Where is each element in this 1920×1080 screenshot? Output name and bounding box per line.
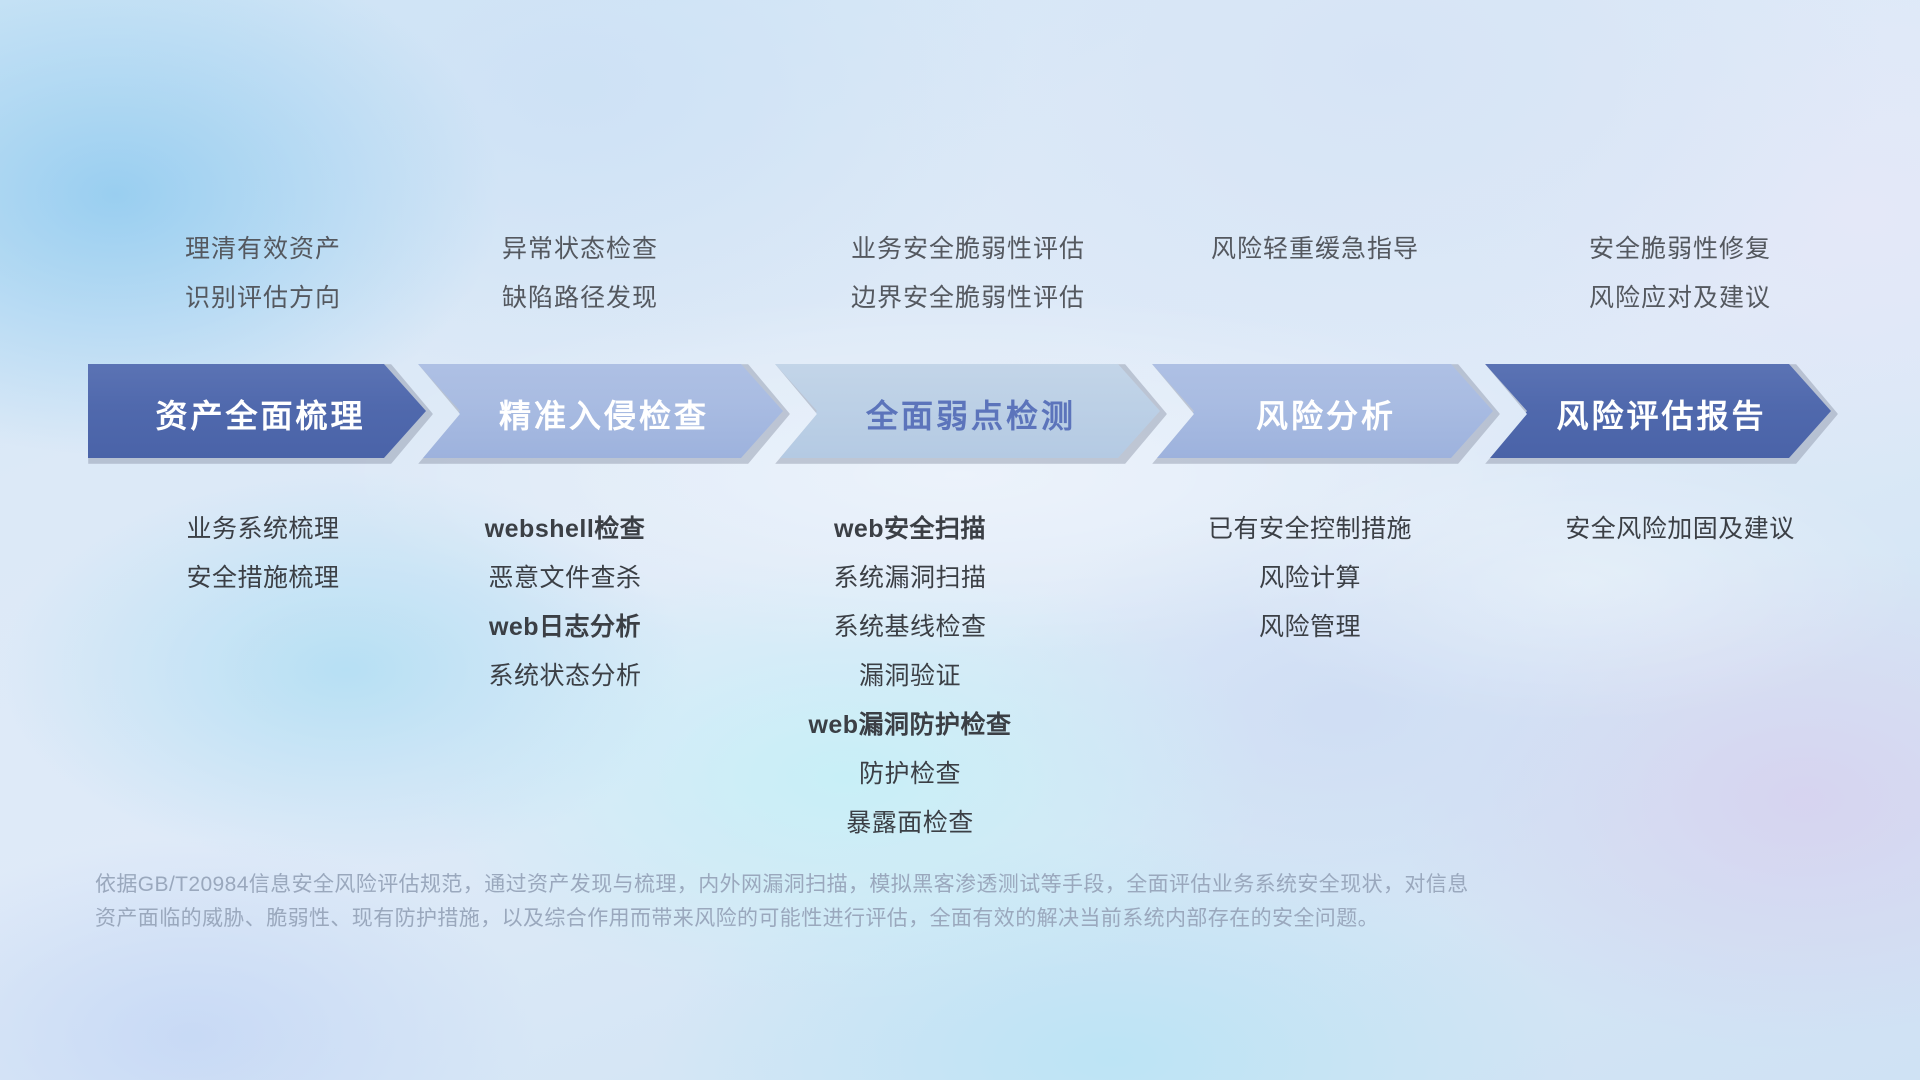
list-item: web漏洞防护检查 — [690, 701, 1130, 750]
process-diagram: 理清有效资产 识别评估方向 异常状态检查 缺陷路径发现 业务安全脆弱性评估 边界… — [0, 0, 1920, 1080]
list-item: 风险计算 — [1100, 554, 1520, 603]
stage-bottom-items-intrusion-check: webshell检查 恶意文件查杀 web日志分析 系统状态分析 — [390, 505, 740, 701]
top-item: 边界安全脆弱性评估 — [758, 274, 1178, 323]
top-item: 风险轻重缓急指导 — [1105, 225, 1525, 274]
list-item: web日志分析 — [390, 603, 740, 652]
list-item: 漏洞验证 — [690, 652, 1130, 701]
process-chevron-banner: 资产全面梳理 精准入侵检查 全面弱点检测 风险分析 风险评估报告 — [88, 364, 1838, 464]
chevron-stage-asset-inventory[interactable]: 资产全面梳理 — [88, 364, 433, 464]
chevron-label: 精准入侵检查 — [499, 391, 709, 437]
chevron-stage-assessment-report[interactable]: 风险评估报告 — [1485, 364, 1838, 464]
list-item: 系统漏洞扫描 — [690, 554, 1130, 603]
list-item: 风险管理 — [1100, 603, 1520, 652]
list-item: 安全措施梳理 — [88, 554, 438, 603]
list-item: webshell检查 — [390, 505, 740, 554]
stage-top-items-risk-analysis: 风险轻重缓急指导 — [1105, 225, 1525, 274]
chevron-label: 资产全面梳理 — [155, 391, 365, 437]
top-item: 理清有效资产 — [88, 225, 438, 274]
top-item: 识别评估方向 — [88, 274, 438, 323]
list-item: 安全风险加固及建议 — [1470, 505, 1890, 554]
chevron-label: 风险分析 — [1256, 391, 1396, 437]
list-item: 恶意文件查杀 — [390, 554, 740, 603]
stage-bottom-items-asset-inventory: 业务系统梳理 安全措施梳理 — [88, 505, 438, 603]
stage-top-items-asset-inventory: 理清有效资产 识别评估方向 — [88, 225, 438, 323]
stage-top-items-intrusion-check: 异常状态检查 缺陷路径发现 — [405, 225, 755, 323]
chevron-stage-weakness-detection[interactable]: 全面弱点检测 — [775, 364, 1167, 464]
chevron-stage-risk-analysis[interactable]: 风险分析 — [1152, 364, 1500, 464]
footer-line: 资产面临的威胁、脆弱性、现有防护措施，以及综合作用而带来风险的可能性进行评估，全… — [95, 902, 1635, 936]
stage-top-items-assessment-report: 安全脆弱性修复 风险应对及建议 — [1480, 225, 1880, 323]
list-item: web安全扫描 — [690, 505, 1130, 554]
stage-bottom-items-weakness-detection: web安全扫描 系统漏洞扫描 系统基线检查 漏洞验证 web漏洞防护检查 防护检… — [690, 505, 1130, 848]
list-item: 防护检查 — [690, 750, 1130, 799]
list-item: 系统基线检查 — [690, 603, 1130, 652]
footer-line: 依据GB/T20984信息安全风险评估规范，通过资产发现与梳理，内外网漏洞扫描，… — [95, 868, 1635, 902]
chevron-label: 风险评估报告 — [1556, 391, 1766, 437]
footer-description: 依据GB/T20984信息安全风险评估规范，通过资产发现与梳理，内外网漏洞扫描，… — [95, 868, 1635, 936]
chevron-label: 全面弱点检测 — [866, 391, 1076, 437]
list-item: 系统状态分析 — [390, 652, 740, 701]
list-item: 业务系统梳理 — [88, 505, 438, 554]
top-item: 缺陷路径发现 — [405, 274, 755, 323]
stage-bottom-items-assessment-report: 安全风险加固及建议 — [1470, 505, 1890, 554]
list-item: 已有安全控制措施 — [1100, 505, 1520, 554]
top-item: 风险应对及建议 — [1480, 274, 1880, 323]
top-item: 异常状态检查 — [405, 225, 755, 274]
list-item: 暴露面检查 — [690, 799, 1130, 848]
stage-bottom-items-risk-analysis: 已有安全控制措施 风险计算 风险管理 — [1100, 505, 1520, 652]
chevron-stage-intrusion-check[interactable]: 精准入侵检查 — [418, 364, 790, 464]
top-item: 安全脆弱性修复 — [1480, 225, 1880, 274]
